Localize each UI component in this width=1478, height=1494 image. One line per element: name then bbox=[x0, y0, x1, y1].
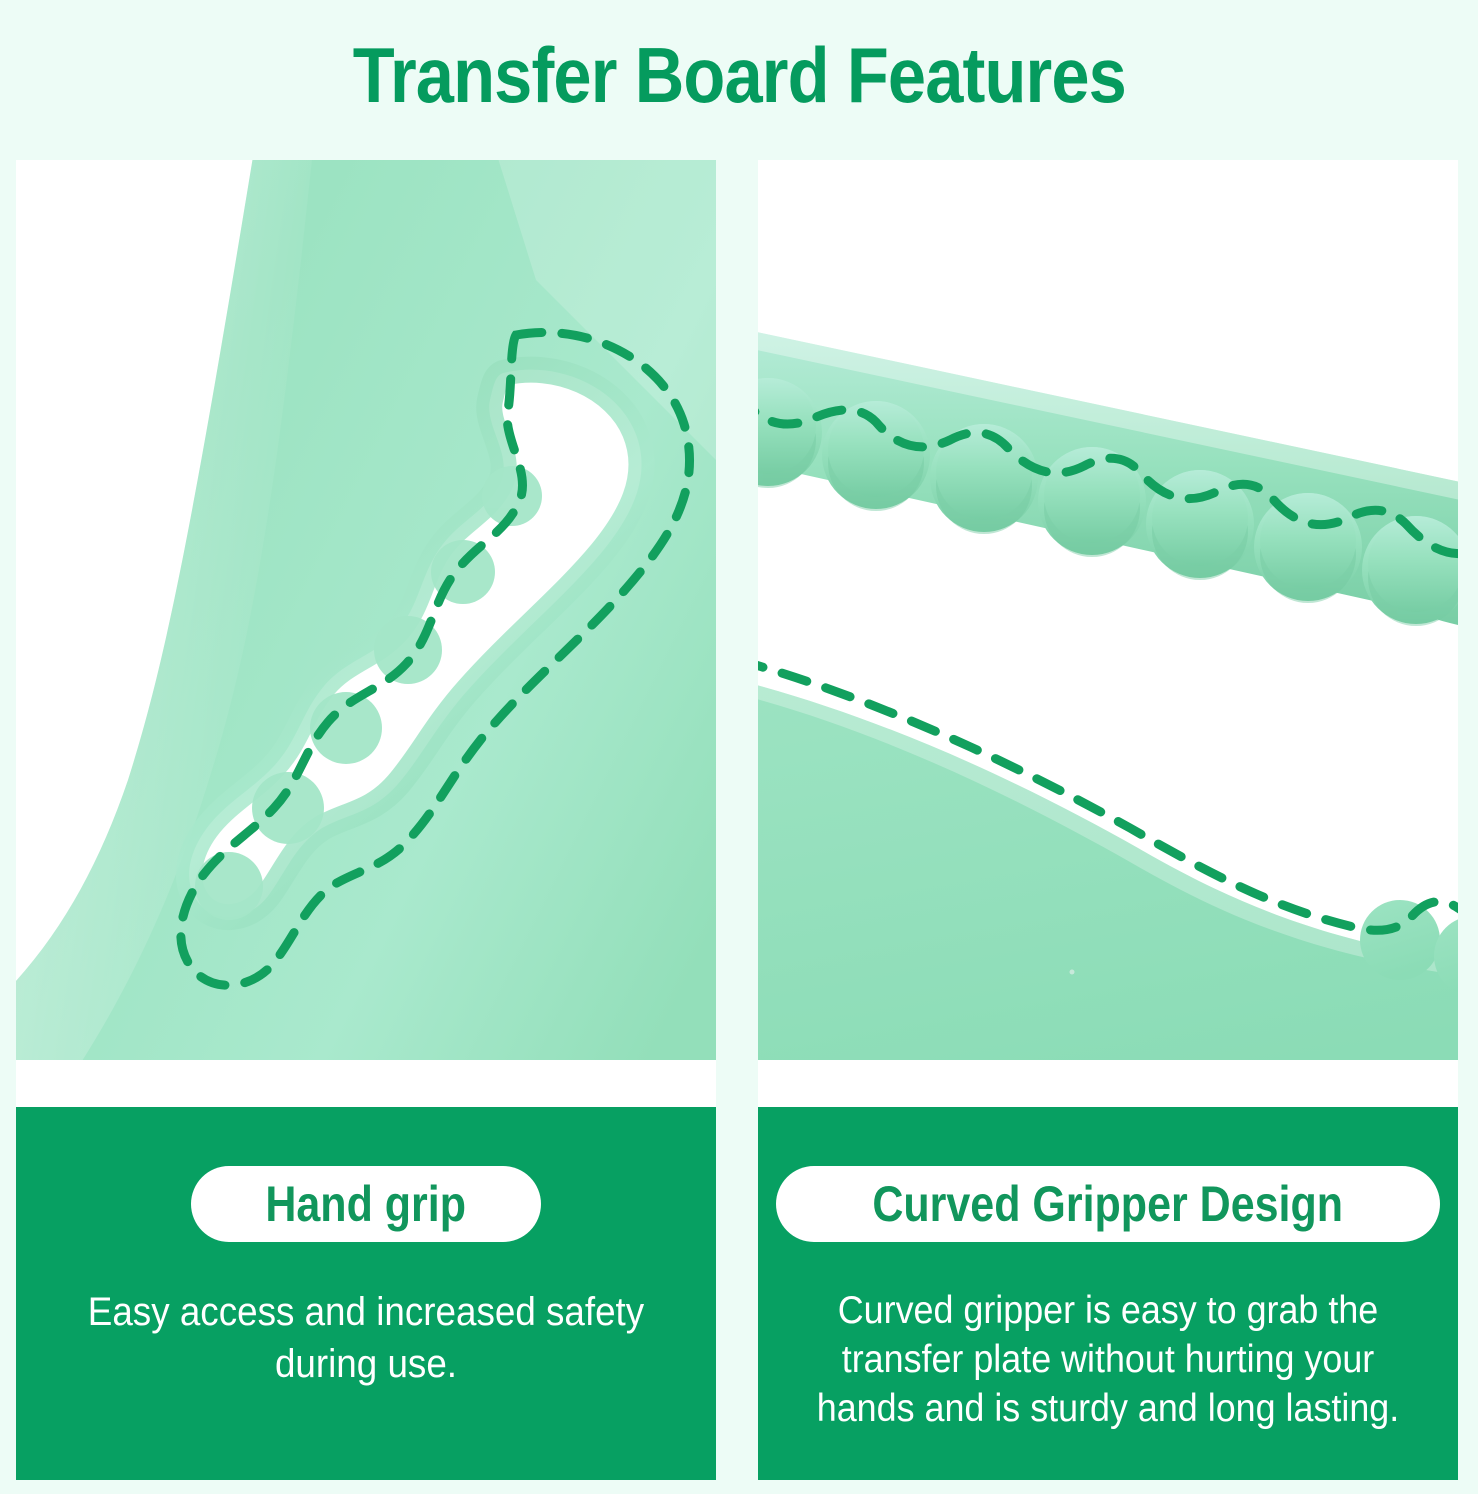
curved-gripper-caption-band: Curved Gripper Design Curved gripper is … bbox=[758, 1107, 1458, 1480]
feature-columns: Hand grip Easy access and increased safe… bbox=[16, 160, 1458, 1480]
hand-grip-description: Easy access and increased safety during … bbox=[44, 1286, 688, 1390]
hand-grip-label-pill: Hand grip bbox=[191, 1166, 540, 1242]
curved-gripper-illustration bbox=[758, 160, 1458, 1060]
hand-grip-label: Hand grip bbox=[266, 1179, 467, 1229]
curved-gripper-label-pill: Curved Gripper Design bbox=[776, 1166, 1439, 1242]
infographic-page: Transfer Board Features bbox=[0, 0, 1478, 1494]
photo-caption-gap bbox=[758, 1060, 1458, 1107]
page-title-bar: Transfer Board Features bbox=[0, 0, 1478, 150]
curved-gripper-closeup-photo bbox=[758, 160, 1458, 1060]
hand-grip-illustration bbox=[16, 160, 716, 1060]
feature-panel-hand-grip: Hand grip Easy access and increased safe… bbox=[16, 160, 716, 1480]
curved-gripper-description: Curved gripper is easy to grab the trans… bbox=[786, 1286, 1430, 1433]
hand-grip-caption-band: Hand grip Easy access and increased safe… bbox=[16, 1107, 716, 1480]
curved-gripper-label: Curved Gripper Design bbox=[873, 1179, 1344, 1229]
photo-caption-gap bbox=[16, 1060, 716, 1107]
page-title: Transfer Board Features bbox=[352, 36, 1125, 114]
hand-grip-closeup-photo bbox=[16, 160, 716, 1060]
feature-panel-curved-gripper: Curved Gripper Design Curved gripper is … bbox=[758, 160, 1458, 1480]
